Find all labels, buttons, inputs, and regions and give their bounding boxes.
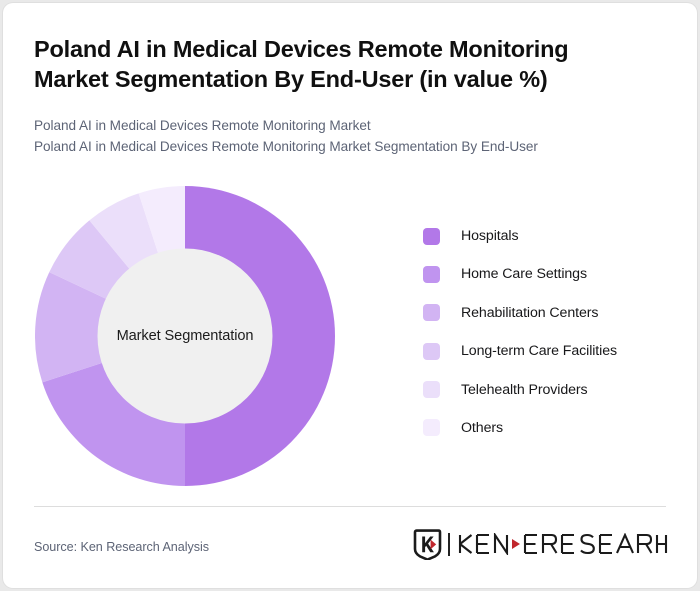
donut-hole (98, 249, 273, 424)
chart-subtitle: Poland AI in Medical Devices Remote Moni… (34, 115, 654, 157)
legend-item-label: Home Care Settings (461, 266, 587, 282)
donut-chart: Market Segmentation (35, 186, 335, 486)
ken-research-shield-icon (413, 529, 442, 560)
legend-swatch-icon (423, 266, 440, 283)
donut-svg (35, 186, 335, 486)
legend-item-label: Rehabilitation Centers (461, 305, 598, 321)
legend-swatch-icon (423, 343, 440, 360)
legend-item[interactable]: Long-term Care Facilities (423, 339, 673, 363)
ken-research-wordmark (457, 533, 669, 555)
legend-item[interactable]: Hospitals (423, 224, 673, 248)
legend-swatch-icon (423, 228, 440, 245)
legend-item-label: Long-term Care Facilities (461, 343, 617, 359)
legend-item[interactable]: Rehabilitation Centers (423, 301, 673, 325)
legend-swatch-icon (423, 419, 440, 436)
chart-card: Poland AI in Medical Devices Remote Moni… (3, 3, 697, 588)
subtitle-line-1: Poland AI in Medical Devices Remote Moni… (34, 115, 654, 136)
legend-item-label: Others (461, 420, 503, 436)
legend-item-label: Hospitals (461, 228, 518, 244)
footer-divider (34, 506, 666, 507)
ken-research-logo (413, 527, 669, 561)
logo-divider (448, 533, 450, 556)
legend-swatch-icon (423, 381, 440, 398)
page-title: Poland AI in Medical Devices Remote Moni… (34, 34, 644, 94)
legend-item[interactable]: Telehealth Providers (423, 378, 673, 402)
chart-legend: HospitalsHome Care SettingsRehabilitatio… (423, 224, 673, 454)
legend-item[interactable]: Home Care Settings (423, 262, 673, 286)
chart-area: Market Segmentation (3, 173, 403, 503)
subtitle-line-2: Poland AI in Medical Devices Remote Moni… (34, 136, 654, 157)
legend-swatch-icon (423, 304, 440, 321)
legend-item-label: Telehealth Providers (461, 382, 588, 398)
legend-item[interactable]: Others (423, 416, 673, 440)
source-note: Source: Ken Research Analysis (34, 540, 209, 554)
